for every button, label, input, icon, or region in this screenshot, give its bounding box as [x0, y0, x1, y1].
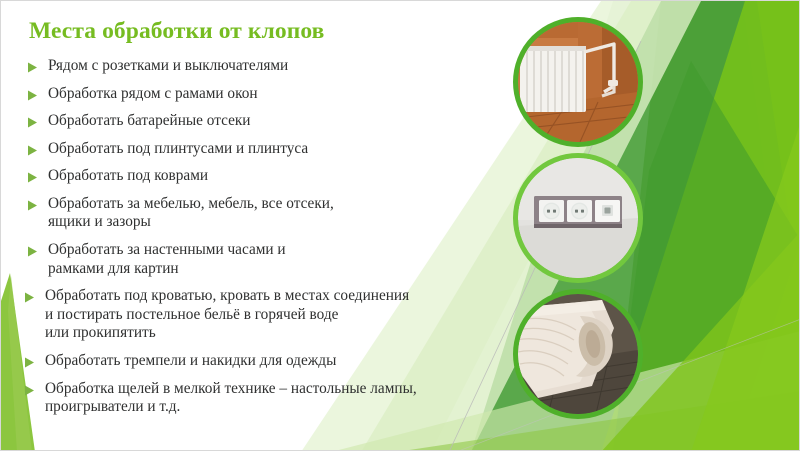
page-title: Места обработки от клопов	[29, 19, 499, 45]
list-item: Обработать батарейные отсеки	[27, 112, 519, 131]
list-item-label: Рядом с розетками и выключателями	[48, 57, 519, 76]
rolled-rug-photo-image	[518, 294, 638, 414]
power-sockets-photo	[513, 153, 643, 283]
radiator-photo-image	[518, 22, 638, 142]
triangle-right-icon	[24, 357, 35, 368]
triangle-right-icon	[27, 246, 38, 257]
bullet-list: Рядом с розетками и выключателями Обрабо…	[27, 57, 519, 417]
triangle-right-icon	[27, 200, 38, 211]
triangle-right-icon	[27, 62, 38, 73]
list-item-label: Обработать тремпели и накидки для одежды	[45, 352, 544, 371]
list-item: Обработать тремпели и накидки для одежды	[24, 352, 544, 371]
triangle-right-icon	[27, 172, 38, 183]
list-item-label: Обработать батарейные отсеки	[48, 112, 519, 131]
list-item-label: Обработать за настенными часами и рамкам…	[48, 241, 519, 278]
radiator-photo	[513, 17, 643, 147]
triangle-right-icon	[24, 385, 35, 396]
triangle-right-icon	[27, 145, 38, 156]
list-item-label: Обработать под коврами	[48, 167, 519, 186]
list-item-label: Обработать за мебелью, мебель, все отсек…	[48, 195, 519, 232]
list-item: Обработать под кроватью, кровать в места…	[24, 287, 544, 343]
list-item: Обработать за настенными часами и рамкам…	[27, 241, 519, 278]
list-item: Обработка рядом с рамами окон	[27, 85, 519, 104]
list-item: Рядом с розетками и выключателями	[27, 57, 519, 76]
list-item-label: Обработка щелей в мелкой технике – насто…	[45, 380, 544, 417]
list-item-label: Обработать под кроватью, кровать в места…	[45, 287, 544, 343]
list-item: Обработка щелей в мелкой технике – насто…	[24, 380, 544, 417]
list-item-label: Обработать под плинтусами и плинтуса	[48, 140, 519, 159]
list-item: Обработать под коврами	[27, 167, 519, 186]
triangle-right-icon	[27, 90, 38, 101]
list-item-label: Обработка рядом с рамами окон	[48, 85, 519, 104]
triangle-right-icon	[27, 117, 38, 128]
list-item: Обработать под плинтусами и плинтуса	[27, 140, 519, 159]
rolled-rug-photo	[513, 289, 643, 419]
triangle-right-icon	[24, 292, 35, 303]
list-item: Обработать за мебелью, мебель, все отсек…	[27, 195, 519, 232]
presentation-slide: Места обработки от клопов Рядом с розетк…	[0, 0, 800, 451]
power-sockets-photo-image	[518, 158, 638, 278]
